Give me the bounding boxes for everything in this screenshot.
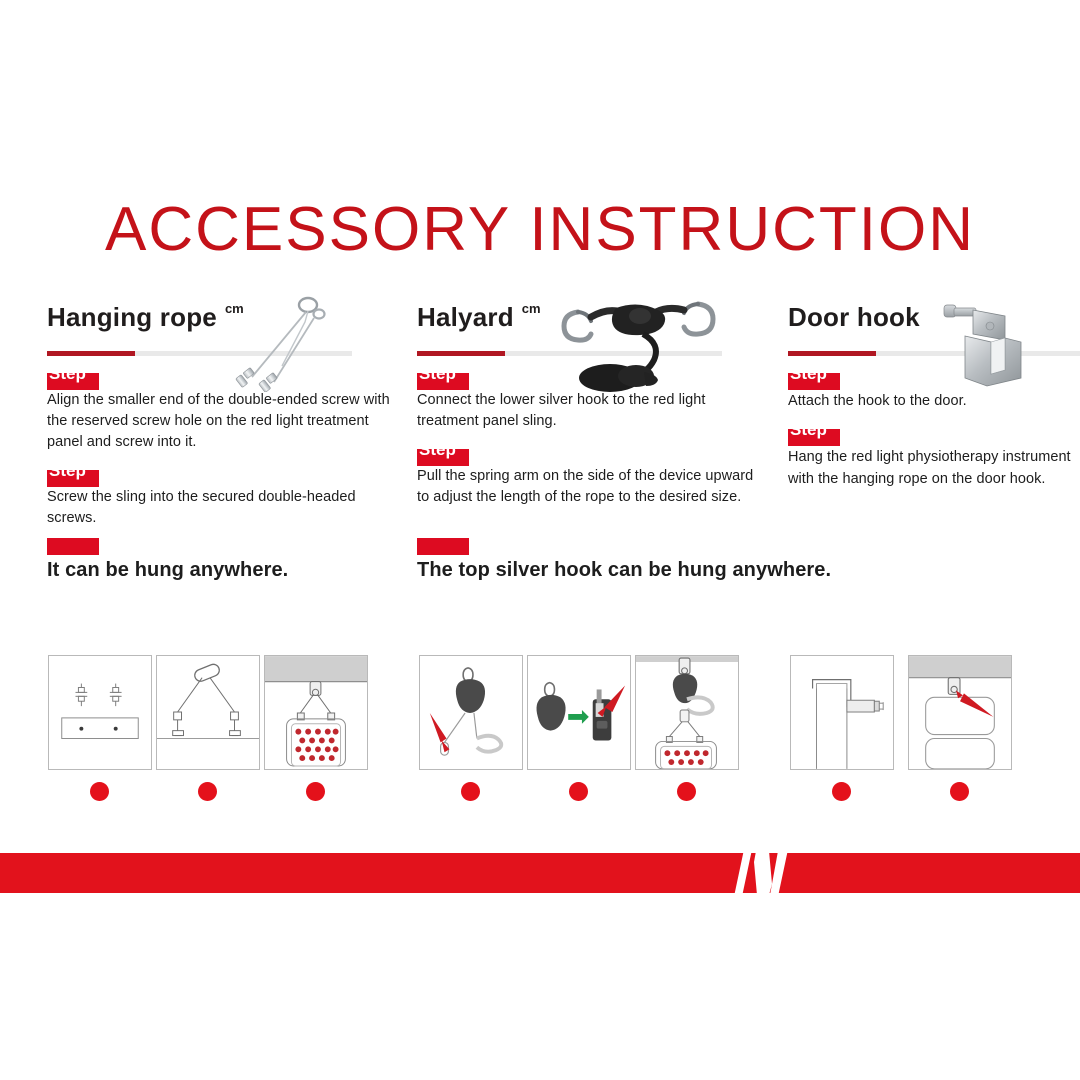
hanging-rope-photo — [222, 292, 340, 392]
column-heading: Halyard — [417, 300, 514, 334]
step-badge: Step — [417, 373, 469, 390]
summary-badge — [417, 538, 469, 555]
panel-hook-on-door — [790, 655, 894, 770]
step-text: Attach the hook to the door. — [788, 390, 1080, 412]
panel-artwork — [791, 656, 893, 769]
column-heading: Door hook — [788, 300, 920, 334]
step-text: Screw the sling into the secured double-… — [47, 487, 397, 529]
brand-m-logo — [728, 840, 828, 906]
panel-artwork — [49, 656, 151, 769]
accessory-instruction-page: ACCESSORY INSTRUCTION Hanging ropecm Ste… — [0, 0, 1080, 1080]
panel-artwork — [420, 656, 522, 769]
column-heading: Hanging rope — [47, 300, 217, 334]
summary-block-halyard: The top silver hook can be hung anywhere… — [417, 538, 831, 583]
step-badge-label: Step — [419, 449, 456, 458]
panel-artwork — [909, 656, 1011, 769]
footer-bar — [0, 853, 1080, 893]
progress-fill — [788, 351, 876, 356]
panel-halyard-pull-lower-hook — [419, 655, 523, 770]
panel-device-hung-from-ceiling — [264, 655, 368, 770]
illustration-panels — [0, 655, 1080, 815]
step-badge-label: Step — [49, 470, 86, 479]
step-text: Pull the spring arm on the side of the d… — [417, 466, 767, 508]
panel-device-hung-on-hook — [908, 655, 1012, 770]
summary-badge — [47, 538, 99, 555]
step-badge: Step — [788, 429, 840, 446]
panel-sling-attached — [156, 655, 260, 770]
step-badge-label: Step — [790, 373, 827, 382]
panel-halyard-spring-arm — [527, 655, 631, 770]
step-text: Align the smaller end of the double-ende… — [47, 390, 397, 453]
panel-halyard-device-hung — [635, 655, 739, 770]
halyard-photo — [548, 290, 728, 400]
step-badge: Step — [788, 373, 840, 390]
panel-artwork — [265, 656, 367, 769]
door-hook-photo — [935, 296, 1040, 388]
progress-fill — [417, 351, 505, 356]
panel-marker-dot — [832, 782, 851, 801]
unit-label: cm — [522, 302, 541, 316]
panel-marker-dot — [306, 782, 325, 801]
panel-marker-dot — [198, 782, 217, 801]
step-badge: Step — [47, 373, 99, 390]
progress-fill — [47, 351, 135, 356]
panel-screws-into-device — [48, 655, 152, 770]
step-badge: Step — [47, 470, 99, 487]
summary-text: The top silver hook can be hung anywhere… — [417, 557, 831, 583]
summary-text: It can be hung anywhere. — [47, 557, 288, 583]
panel-marker-dot — [950, 782, 969, 801]
panel-artwork — [157, 656, 259, 769]
panel-marker-dot — [677, 782, 696, 801]
panel-marker-dot — [569, 782, 588, 801]
panel-artwork — [528, 656, 630, 769]
summary-block-hanging-rope: It can be hung anywhere. — [47, 538, 288, 583]
step-text: Hang the red light physiotherapy instrum… — [788, 446, 1080, 490]
step-badge-label: Step — [49, 373, 86, 382]
panel-artwork — [636, 656, 738, 769]
step-badge: Step — [417, 449, 469, 466]
panel-marker-dot — [90, 782, 109, 801]
step-badge-label: Step — [419, 373, 456, 382]
panel-marker-dot — [461, 782, 480, 801]
step-badge-label: Step — [790, 429, 827, 438]
page-title: ACCESSORY INSTRUCTION — [0, 196, 1080, 264]
